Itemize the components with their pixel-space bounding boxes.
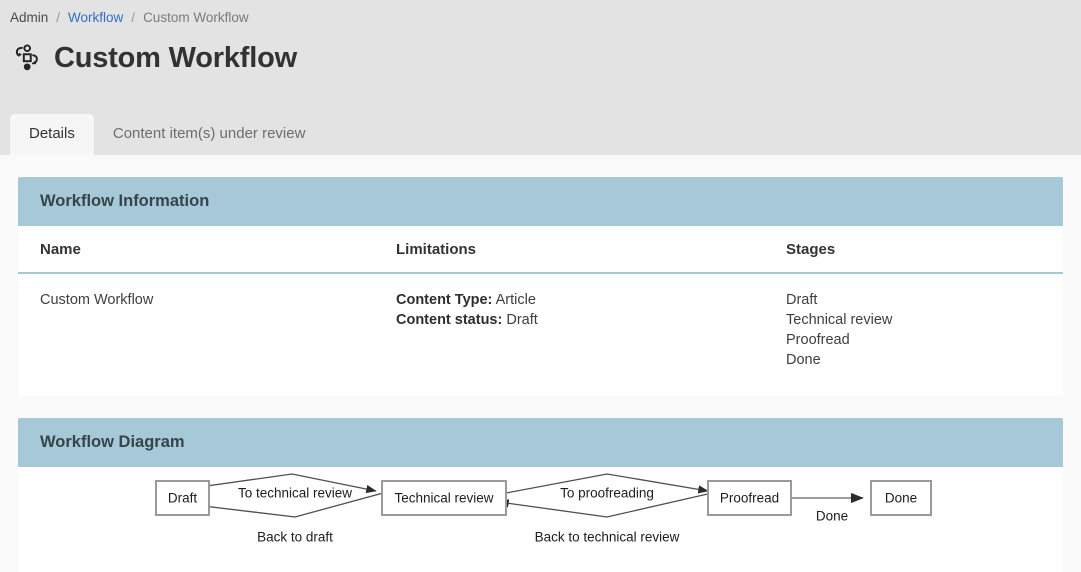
diagram-node-proofread[interactable]: Proofread: [708, 481, 791, 515]
diagram-node-technical-review[interactable]: Technical review: [382, 481, 506, 515]
diagram-node-label-draft: Draft: [168, 491, 198, 506]
limitation-key: Content Type:: [396, 292, 492, 308]
diagram-node-label-proofread: Proofread: [720, 491, 779, 506]
page-title-row: Custom Workflow: [0, 27, 1081, 75]
tab-bar: Details Content item(s) under review: [10, 114, 324, 155]
page-title: Custom Workflow: [54, 41, 297, 75]
edge-label-back-to-draft: Back to draft: [257, 530, 333, 545]
limitation-content-status: Content status: Draft: [396, 310, 786, 330]
breadcrumb-item-admin: Admin: [10, 9, 48, 27]
diagram-node-label-done: Done: [885, 491, 917, 506]
breadcrumb-item-workflow[interactable]: Workflow: [68, 9, 123, 27]
breadcrumb-item-current: Custom Workflow: [143, 9, 249, 27]
cell-stages: Draft Technical review Proofread Done: [786, 273, 1063, 396]
breadcrumb: Admin / Workflow / Custom Workflow: [0, 0, 1081, 27]
diagram-node-label-technical-review: Technical review: [394, 491, 493, 506]
edge-proofread-to-technical-review: Back to technical review: [499, 493, 712, 545]
limitation-key: Content status:: [396, 312, 502, 328]
diagram-node-draft[interactable]: Draft: [156, 481, 209, 515]
workflow-diagram-panel: Workflow Diagram To technical review: [18, 418, 1063, 572]
column-header-limitations: Limitations: [396, 226, 786, 273]
edge-technical-review-to-proofread: To proofreading: [506, 474, 708, 501]
table-row: Custom Workflow Content Type: Article Co…: [18, 273, 1063, 396]
edge-label-to-technical-review: To technical review: [238, 486, 352, 501]
column-header-name: Name: [18, 226, 396, 273]
workflow-information-header: Workflow Information: [18, 177, 1063, 226]
tab-details[interactable]: Details: [10, 114, 94, 155]
edge-label-to-proofreading: To proofreading: [560, 486, 654, 501]
breadcrumb-separator: /: [129, 9, 137, 27]
cell-name: Custom Workflow: [18, 273, 396, 396]
limitation-value: Article: [496, 292, 536, 308]
workflow-diagram-icon: [12, 43, 42, 73]
cell-limitations: Content Type: Article Content status: Dr…: [396, 273, 786, 396]
column-header-stages: Stages: [786, 226, 1063, 273]
workflow-information-panel: Workflow Information Name Limitations St…: [18, 177, 1063, 396]
edge-label-done: Done: [816, 509, 848, 524]
main-content: Workflow Information Name Limitations St…: [0, 177, 1081, 572]
edge-proofread-to-done: Done: [791, 498, 863, 524]
tab-content-items-under-review[interactable]: Content item(s) under review: [94, 114, 325, 155]
stage-item: Technical review: [786, 310, 1063, 330]
diagram-node-done[interactable]: Done: [871, 481, 931, 515]
page-header-area: Admin / Workflow / Custom Workflow Custo…: [0, 0, 1081, 155]
edge-label-back-to-technical-review: Back to technical review: [535, 530, 680, 545]
workflow-diagram-canvas: To technical review Back to draft To pro…: [18, 467, 1063, 572]
stage-item: Done: [786, 350, 1063, 370]
workflow-diagram-header: Workflow Diagram: [18, 418, 1063, 467]
stage-item: Proofread: [786, 330, 1063, 350]
workflow-information-table: Name Limitations Stages Custom Workflow …: [18, 226, 1063, 396]
limitation-value: Draft: [506, 312, 537, 328]
breadcrumb-separator: /: [54, 9, 62, 27]
table-header-row: Name Limitations Stages: [18, 226, 1063, 273]
stage-item: Draft: [786, 290, 1063, 310]
limitation-content-type: Content Type: Article: [396, 290, 786, 310]
